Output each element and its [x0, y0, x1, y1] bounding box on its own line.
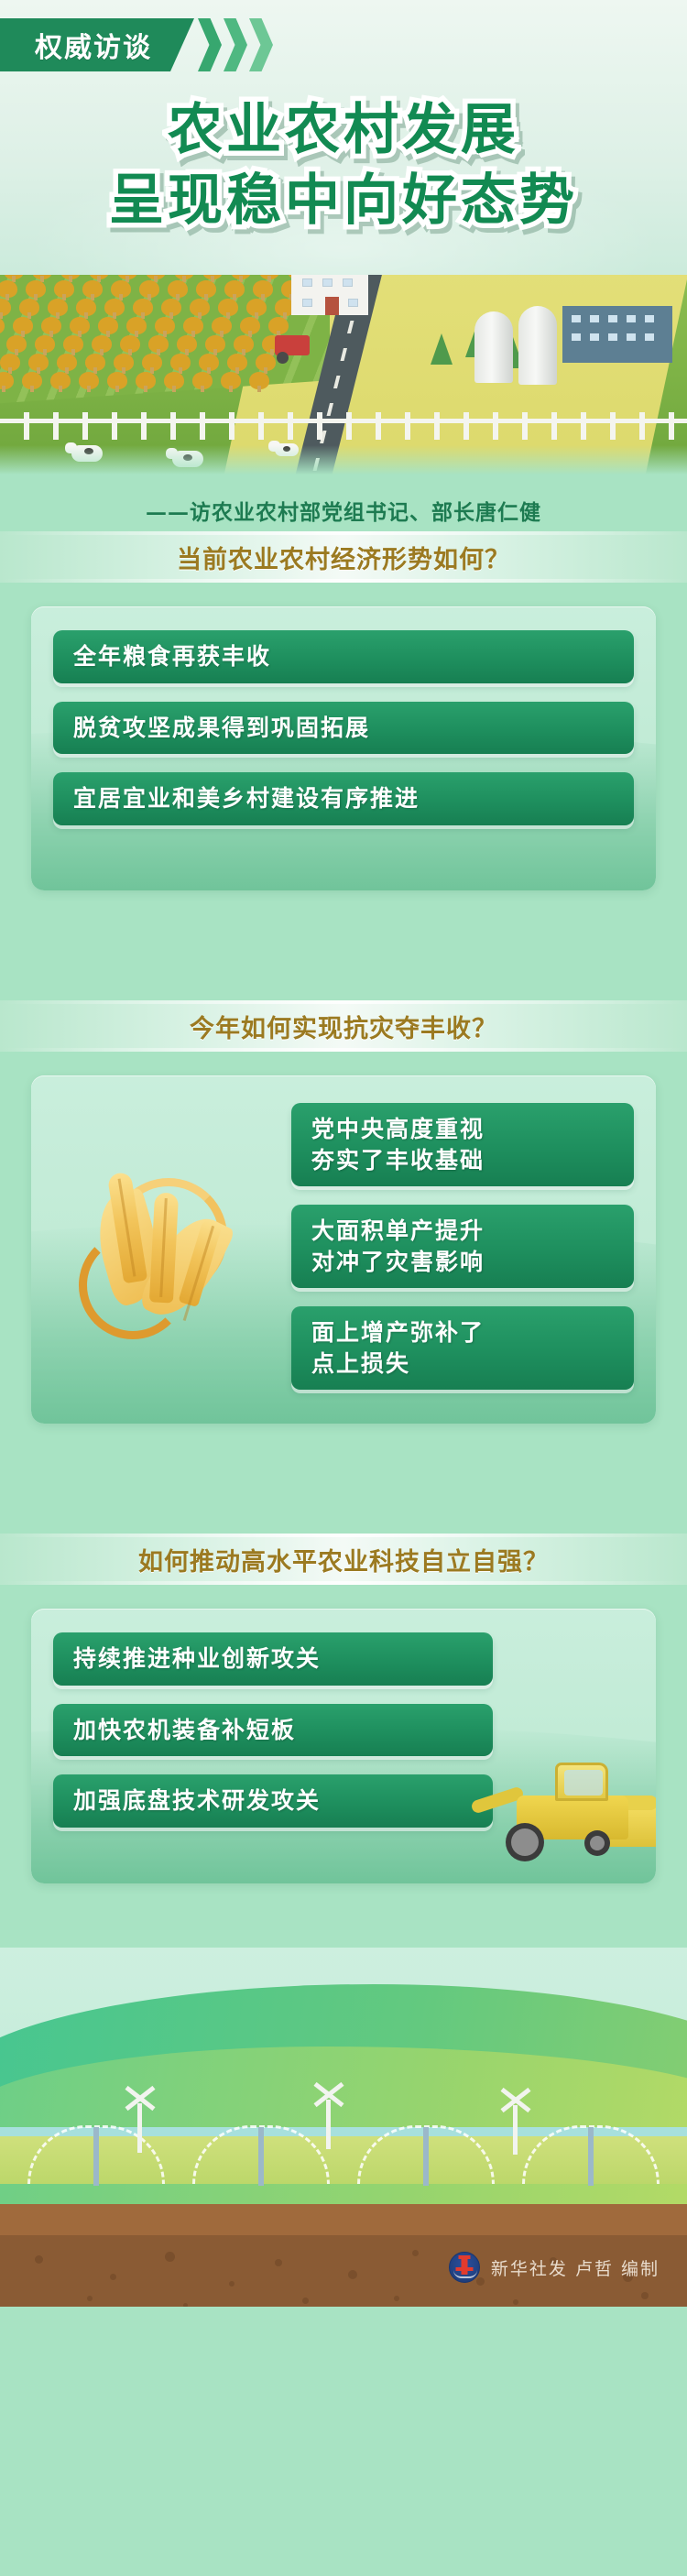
soil-pebble-icon — [35, 2255, 43, 2264]
soil-pebble-icon — [641, 2292, 649, 2299]
window-icon — [343, 278, 353, 287]
wheat-bundle-icon — [62, 1152, 282, 1354]
orchard-bush-icon — [199, 354, 219, 371]
orchard-bush-icon — [35, 335, 55, 353]
orchard-bush-icon — [224, 280, 245, 298]
section-header-3: 如何推动高水平农业科技自立自强？ — [0, 1534, 687, 1585]
list-item[interactable]: 面上增产弥补了 点上损失 — [291, 1306, 634, 1390]
orchard-bush-icon — [192, 372, 213, 389]
orchard-bush-icon — [54, 280, 74, 298]
orchard-bush-icon — [26, 280, 46, 298]
orchard-bush-icon — [139, 280, 159, 298]
soil-pebble-icon — [229, 2281, 234, 2287]
chevron-right-icon — [224, 18, 247, 71]
orchard-bush-icon — [246, 299, 267, 316]
section-card-3: 持续推进种业创新攻关 加快农机装备补短板 加强底盘技术研发攻关 — [31, 1609, 656, 1883]
list-item[interactable]: 宜居宜业和美乡村建设有序推进 — [53, 772, 634, 825]
orchard-bush-icon — [28, 354, 49, 371]
windmill-icon — [137, 2103, 142, 2153]
footer-credit: 新华社发 卢哲 编制 — [449, 2252, 660, 2283]
orchard-bush-icon — [82, 280, 103, 298]
title-line-2: 呈现稳中向好态势 — [109, 166, 578, 236]
soil-pebble-icon — [165, 2252, 175, 2262]
soil-top-layer — [0, 2204, 687, 2235]
spacer — [0, 1883, 687, 1948]
orchard-bush-icon — [13, 317, 33, 334]
orchard-bush-icon — [92, 335, 112, 353]
hero-banner: 权威访谈 农业农村发展 呈现稳中向好态势 — [0, 0, 687, 476]
orchard-bush-icon — [164, 372, 184, 389]
window-icon — [302, 278, 312, 287]
window-icon — [348, 299, 358, 307]
list-item-line1: 党中央高度重视 — [311, 1116, 485, 1142]
orchard-bush-icon — [98, 317, 118, 334]
irrigation-scene-illustration — [0, 1948, 687, 2204]
windmill-icon — [513, 2105, 518, 2155]
list-item-line2: 夯实了丰收基础 — [311, 1147, 485, 1173]
harvester-icon — [432, 1737, 656, 1874]
soil-pebble-icon — [394, 2296, 399, 2301]
orchard-bush-icon — [50, 372, 71, 389]
orchard-bush-icon — [221, 372, 241, 389]
orchard-bush-icon — [0, 280, 17, 298]
harvester-wheel-icon — [506, 1823, 544, 1861]
orchard-bush-icon — [70, 317, 90, 334]
authority-interview-badge: 权威访谈 — [0, 18, 273, 71]
section-card-2: 党中央高度重视 夯实了丰收基础 大面积单产提升 对冲了灾害影响 面上增产弥补了 … — [31, 1075, 656, 1424]
sprinkler-pole-icon — [93, 2127, 99, 2186]
spacer — [0, 1424, 687, 1534]
orchard-bush-icon — [183, 317, 203, 334]
orchard-bush-icon — [168, 280, 188, 298]
industrial-building-icon — [562, 306, 672, 363]
orchard-bush-icon — [177, 335, 197, 353]
poster-title: 农业农村发展 呈现稳中向好态势 — [0, 95, 687, 236]
orchard-bush-icon — [0, 354, 20, 371]
badge-label: 权威访谈 — [0, 18, 194, 71]
soil-pebble-icon — [513, 2299, 518, 2305]
window-icon — [322, 278, 333, 287]
orchard-bush-icon — [120, 335, 140, 353]
orchard-bush-icon — [161, 299, 181, 316]
list-item[interactable]: 加快农机装备补短板 — [53, 1704, 493, 1757]
orchard-bush-icon — [256, 354, 276, 371]
silo-icon — [474, 311, 513, 383]
soil-pebble-icon — [87, 2296, 93, 2301]
list-item-line2: 对冲了灾害影响 — [311, 1249, 485, 1275]
wheat-illustration — [53, 1099, 282, 1390]
orchard-bush-icon — [22, 372, 42, 389]
sprinkler-pole-icon — [423, 2127, 429, 2186]
door-icon — [325, 297, 339, 315]
farm-landscape-illustration — [0, 275, 687, 476]
list-item[interactable]: 全年粮食再获丰收 — [53, 630, 634, 683]
spacer — [0, 890, 687, 1000]
infographic-poster: 权威访谈 农业农村发展 呈现稳中向好态势 ——访农业农村部党组书记、部长唐仁健 … — [0, 0, 687, 2576]
tractor-icon — [275, 335, 310, 355]
silo-icon — [518, 306, 557, 385]
list-item[interactable]: 大面积单产提升 对冲了灾害影响 — [291, 1205, 634, 1288]
orchard-bush-icon — [79, 372, 99, 389]
credit-text: 新华社发 卢哲 编制 — [491, 2255, 660, 2280]
orchard-bush-icon — [133, 299, 153, 316]
orchard-bush-icon — [196, 280, 216, 298]
harvester-glass-icon — [564, 1770, 603, 1796]
orchard-bush-icon — [205, 335, 225, 353]
soil-scallop-edge — [0, 2204, 687, 2215]
soil-pebble-icon — [275, 2259, 282, 2266]
orchard-bush-icon — [111, 280, 131, 298]
orchard-bush-icon — [218, 299, 238, 316]
orchard-bush-icon — [249, 372, 269, 389]
orchard-bush-icon — [19, 299, 39, 316]
windmill-icon — [326, 2100, 331, 2149]
orchard-bush-icon — [240, 317, 260, 334]
chevron-group — [198, 18, 273, 71]
list-item-line1: 大面积单产提升 — [311, 1217, 485, 1244]
orchard-bush-icon — [148, 335, 169, 353]
hero-fade — [0, 445, 687, 476]
section-1-items: 全年粮食再获丰收 脱贫攻坚成果得到巩固拓展 宜居宜业和美乡村建设有序推进 — [31, 606, 656, 849]
section-title-3: 如何推动高水平农业科技自立自强？ — [138, 1542, 549, 1577]
orchard-bush-icon — [6, 335, 27, 353]
list-item-line2: 点上损失 — [311, 1350, 410, 1377]
window-icon — [302, 299, 312, 307]
section-header-2: 今年如何实现抗灾夺丰收？ — [0, 1000, 687, 1052]
orchard-bush-icon — [114, 354, 134, 371]
section-card-1: 全年粮食再获丰收 脱贫攻坚成果得到巩固拓展 宜居宜业和美乡村建设有序推进 — [31, 606, 656, 890]
list-item[interactable]: 持续推进种业创新攻关 — [53, 1632, 493, 1686]
section-title-1: 当前农业农村经济形势如何？ — [177, 540, 510, 575]
orchard-bush-icon — [253, 280, 273, 298]
orchard-bush-icon — [41, 317, 61, 334]
soil-pebble-icon — [302, 2298, 309, 2304]
list-item[interactable]: 脱贫攻坚成果得到巩固拓展 — [53, 702, 634, 755]
orchard-bush-icon — [268, 317, 289, 334]
section-2-body: 党中央高度重视 夯实了丰收基础 大面积单产提升 对冲了灾害影响 面上增产弥补了 … — [31, 1075, 656, 1414]
orchard-bush-icon — [142, 354, 162, 371]
orchard-bush-icon — [85, 354, 105, 371]
chevron-right-icon — [198, 18, 222, 71]
harvester-wheel-icon — [584, 1830, 610, 1856]
orchard-bush-icon — [57, 354, 77, 371]
poster-subtitle: ——访农业农村部党组书记、部长唐仁健 — [0, 495, 687, 526]
list-item[interactable]: 加强底盘技术研发攻关 — [53, 1774, 493, 1828]
soil-footer: 新华社发 卢哲 编制 — [0, 2204, 687, 2307]
title-line-1: 农业农村发展 — [168, 95, 519, 166]
section-header-1: 当前农业农村经济形势如何？ — [0, 531, 687, 583]
orchard-bush-icon — [170, 354, 191, 371]
soil-pebble-icon — [183, 2303, 188, 2307]
orchard-bush-icon — [76, 299, 96, 316]
orchard-bush-icon — [155, 317, 175, 334]
soil-pebble-icon — [110, 2274, 116, 2280]
fence-icon — [0, 412, 687, 440]
sprinkler-pole-icon — [588, 2127, 594, 2186]
sprinkler-pole-icon — [258, 2127, 264, 2186]
chevron-right-icon — [249, 18, 273, 71]
list-item-line1: 面上增产弥补了 — [311, 1319, 485, 1346]
orchard-bush-icon — [190, 299, 210, 316]
orchard-bush-icon — [63, 335, 83, 353]
orchard-bush-icon — [48, 299, 68, 316]
list-item[interactable]: 党中央高度重视 夯实了丰收基础 — [291, 1103, 634, 1186]
orchard-bush-icon — [212, 317, 232, 334]
conifer-tree-icon — [431, 333, 453, 365]
orchard-bush-icon — [227, 354, 247, 371]
soil-pebble-icon — [412, 2250, 419, 2256]
orchard-bush-icon — [104, 299, 125, 316]
section-title-2: 今年如何实现抗灾夺丰收？ — [190, 1009, 497, 1044]
orchard-bush-icon — [234, 335, 254, 353]
orchard-bush-icon — [107, 372, 127, 389]
xinhua-logo-icon — [449, 2252, 480, 2283]
section-2-items: 党中央高度重视 夯实了丰收基础 大面积单产提升 对冲了灾害影响 面上增产弥补了 … — [291, 1099, 634, 1390]
orchard-bush-icon — [136, 372, 156, 389]
orchard-bush-icon — [126, 317, 147, 334]
soil-pebble-icon — [348, 2270, 357, 2279]
